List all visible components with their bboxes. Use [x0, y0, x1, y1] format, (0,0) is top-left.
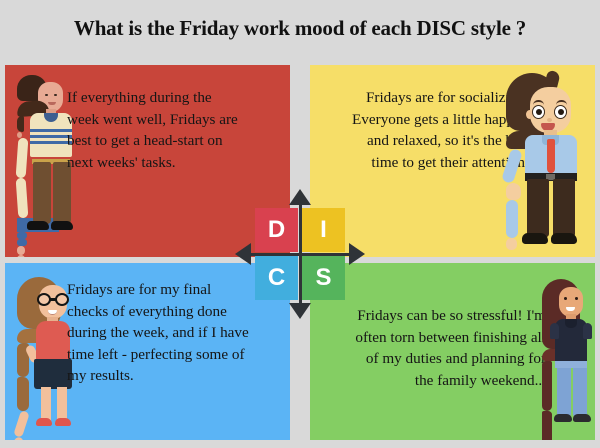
illustration-waving-man-in-blue-shirt	[506, 73, 595, 255]
arrow-right-icon	[349, 243, 365, 265]
badge-cell-i[interactable]: I	[302, 208, 345, 252]
disc-friday-mood-infographic: What is the Friday work mood of each DIS…	[0, 0, 600, 448]
arrow-left-icon	[235, 243, 251, 265]
quadrant-c[interactable]: Fridays are for my final checks of every…	[5, 263, 290, 440]
quadrant-i-text: Fridays are for socializing! Everyone ge…	[340, 87, 530, 173]
badge-divider-horizontal	[251, 253, 349, 257]
quadrant-d-text: If everything during the week went well,…	[67, 87, 247, 173]
arrow-up-icon	[289, 189, 311, 205]
badge-cell-s[interactable]: S	[302, 256, 345, 300]
badge-cell-c[interactable]: C	[255, 256, 298, 300]
arrow-down-icon	[289, 303, 311, 319]
disc-center-badge[interactable]: D I C S	[255, 208, 345, 300]
quadrant-d[interactable]: If everything during the week went well,…	[5, 65, 290, 257]
quadrant-s-text: Fridays can be so stressful! I'm often t…	[348, 305, 546, 391]
illustration-woman-in-navy-polo	[542, 279, 595, 431]
quadrant-i[interactable]: Fridays are for socializing! Everyone ge…	[310, 65, 595, 257]
page-title: What is the Friday work mood of each DIS…	[0, 16, 600, 41]
quadrant-s[interactable]: Fridays can be so stressful! I'm often t…	[310, 263, 595, 440]
badge-cell-d[interactable]: D	[255, 208, 298, 252]
quadrant-c-text: Fridays are for my final checks of every…	[67, 279, 252, 387]
